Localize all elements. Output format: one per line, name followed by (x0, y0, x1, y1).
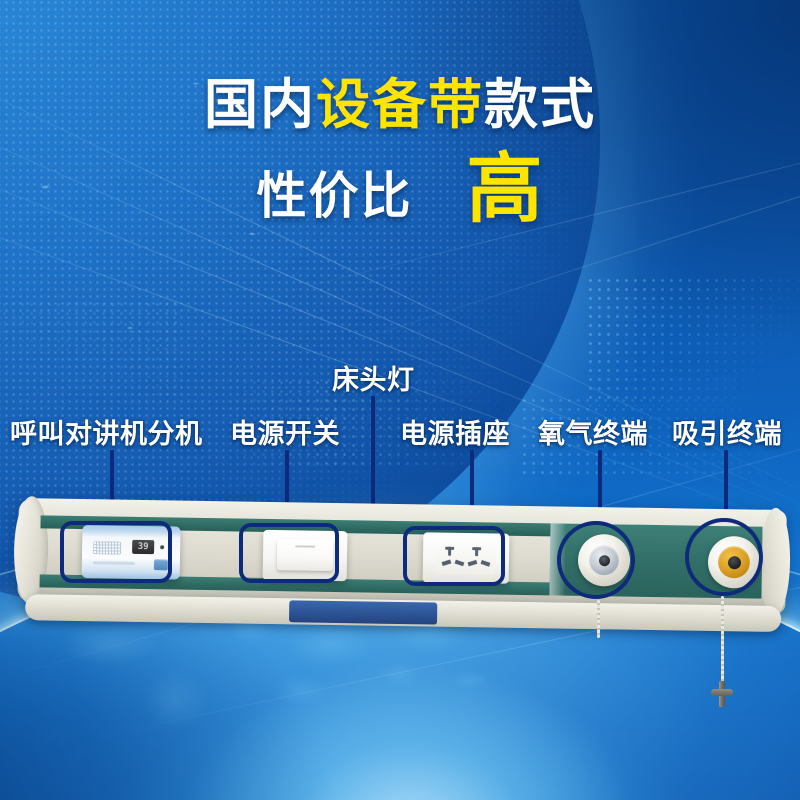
callout-label-suction-terminal: 吸引终端 (672, 412, 782, 451)
callout-label-power-socket: 电源插座 (400, 412, 510, 451)
callout-label-power-switch: 电源开关 (230, 412, 340, 451)
callout-label-bed-lamp: 床头灯 (332, 358, 415, 397)
highlight-suction-terminal (685, 518, 763, 596)
dot-pattern-right (586, 276, 800, 406)
highlight-intercom (60, 521, 172, 583)
highlight-power-socket (403, 526, 505, 586)
highlight-power-switch (239, 523, 339, 583)
headline-line2-text: 性价比 (257, 171, 413, 221)
highlight-oxygen-terminal (557, 521, 635, 599)
suction-pull-cord (721, 596, 724, 688)
bed-lamp-fixture[interactable] (289, 600, 437, 624)
headline-line1-part2: 款式 (484, 75, 596, 135)
callout-label-oxygen-terminal: 氧气终端 (538, 412, 648, 451)
dot-pattern-left (0, 300, 180, 410)
oxygen-cord (597, 600, 600, 638)
pull-cord-handle (711, 681, 733, 707)
headline-line-2: 性价比 高 (0, 158, 800, 234)
promo-banner: 国内设备带款式 性价比 高 呼叫对讲机分机 电源开关 床头灯 电源插座 氧气终端… (0, 0, 800, 800)
headline-line-1: 国内设备带款式 (0, 78, 800, 132)
headline-line1-part1: 国内 (204, 75, 316, 135)
headline-line1-highlight: 设备带 (316, 75, 484, 135)
headline-line2-highlight: 高 (467, 152, 544, 228)
headline-block: 国内设备带款式 性价比 高 (0, 78, 800, 234)
callout-label-intercom: 呼叫对讲机分机 (10, 412, 203, 451)
